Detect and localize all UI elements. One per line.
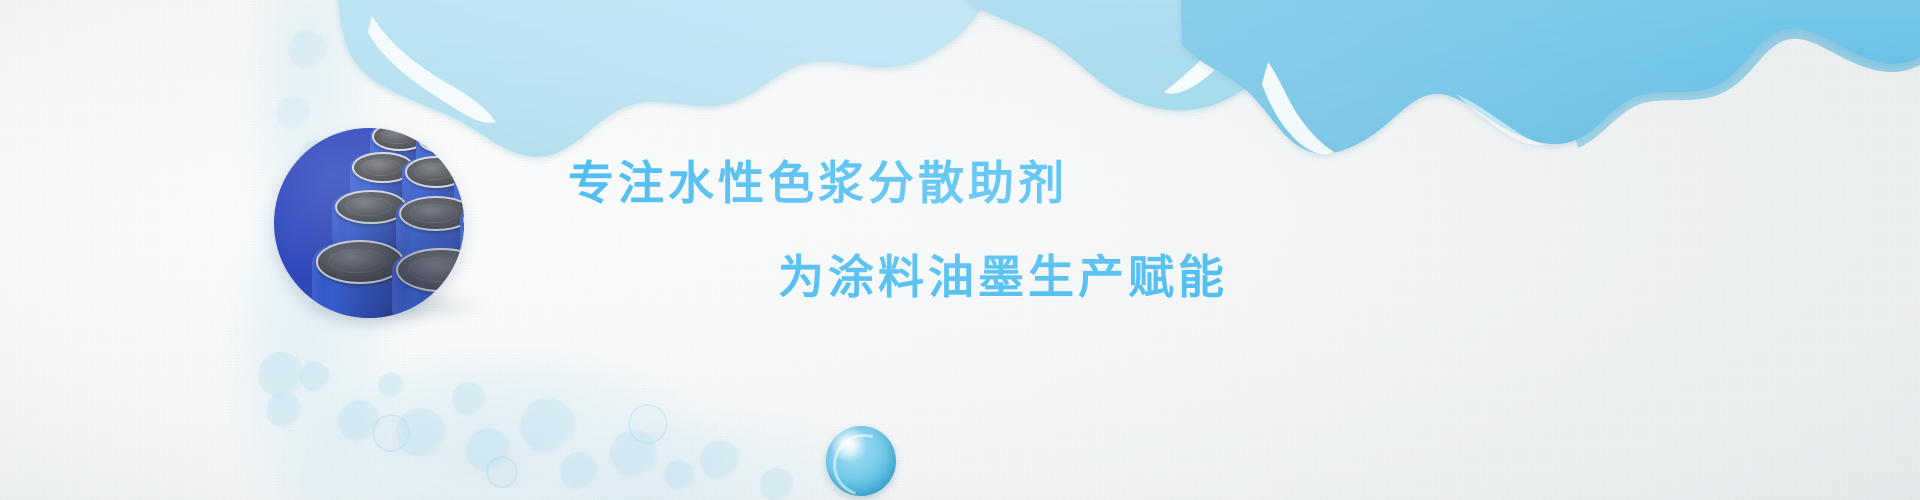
background-vignette bbox=[0, 0, 1920, 500]
promotional-banner: 专注水性色浆分散助剂 为涂料油墨生产赋能 bbox=[0, 0, 1920, 500]
